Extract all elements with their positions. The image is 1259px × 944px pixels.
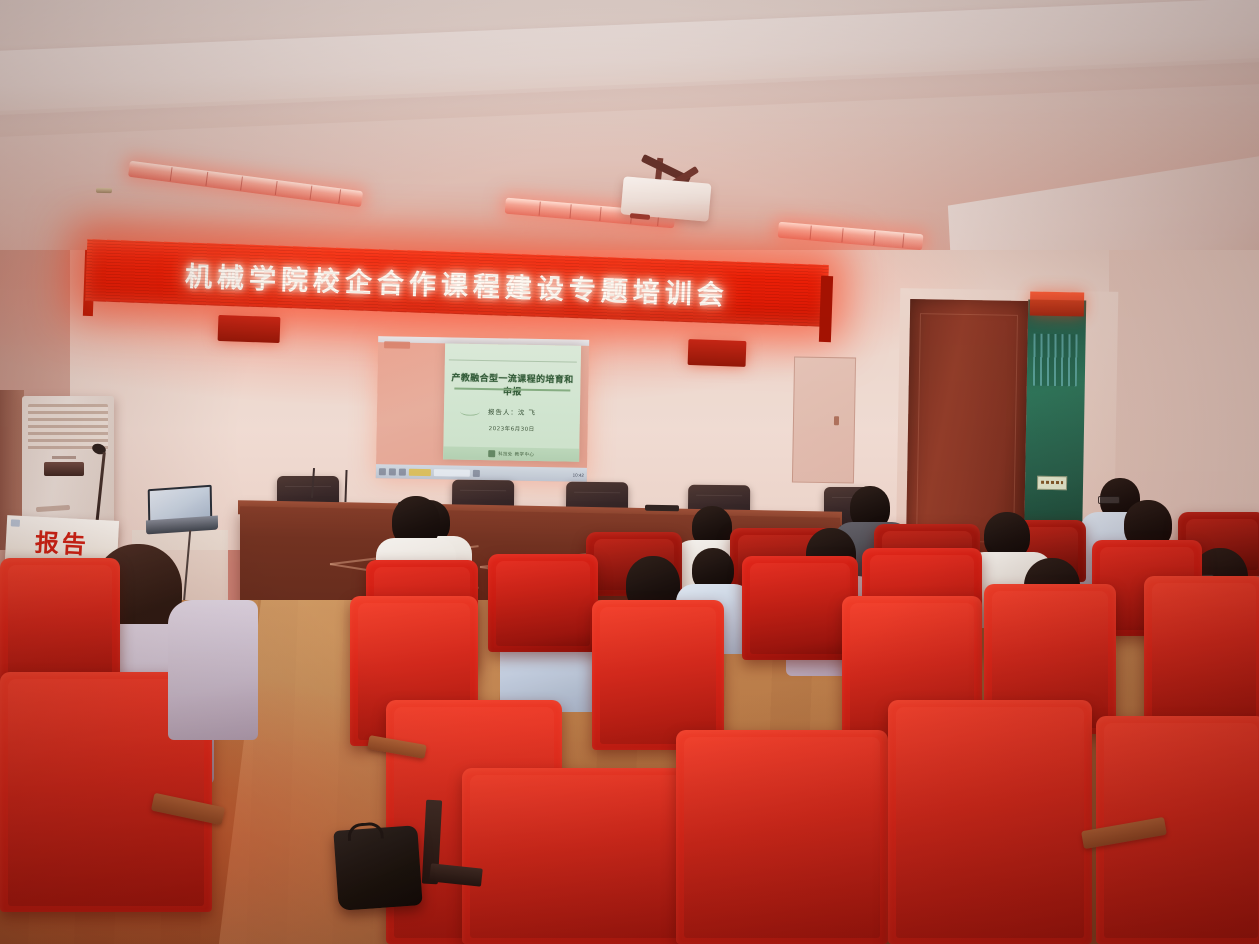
auditorium-seat (462, 768, 702, 944)
ceiling (0, 0, 1259, 268)
slide-top-divider (449, 359, 577, 362)
wall-electrical-panel (792, 356, 856, 483)
table-object (645, 505, 679, 512)
taskbar-start-icon (379, 468, 386, 475)
led-banner-text: 机械学院校企合作课程建设专题培训会 (184, 254, 729, 312)
conference-room-photo: 机械学院校企合作课程建设专题培训会 产教融合型一流课程的培育和申报 报告人：沈 … (0, 0, 1259, 944)
corridor-sign (1037, 476, 1067, 491)
ac-brand-logo (52, 456, 76, 459)
taskbar-active-window (409, 468, 431, 475)
desktop-shortcut-icon (384, 341, 410, 348)
slide-footer-logo-icon (488, 450, 495, 457)
led-banner-edge-right (819, 276, 833, 342)
door-panel-inset (916, 313, 1018, 543)
slide-title: 产教融合型一流课程的培育和申报 (448, 370, 576, 398)
ac-display-panel (44, 462, 84, 476)
slide-footer-text: 科技处 教学中心 (498, 451, 534, 458)
glasses-icon (1098, 496, 1120, 504)
auditorium-seat (0, 558, 120, 688)
auditorium-seat (592, 600, 724, 750)
taskbar-icon-2 (399, 468, 406, 475)
taskbar-clock: 10:42 (573, 472, 584, 477)
taskbar-icon-1 (389, 468, 396, 475)
shoulder-bag (333, 825, 422, 911)
panel-latch-icon (834, 416, 839, 425)
ac-lower-vent (36, 505, 70, 512)
slide-footer: 科技处 教学中心 (443, 446, 579, 461)
slide-date: 2023年6月30日 (448, 423, 576, 433)
auditorium-seat (742, 556, 858, 660)
auditorium-seat (488, 554, 598, 652)
auditorium-seat (676, 730, 888, 944)
taskbar-window-2 (434, 469, 470, 477)
door-handle-icon (96, 188, 112, 193)
wall-speaker-right (688, 339, 747, 367)
projection-screen: 产教融合型一流课程的培育和申报 报告人：沈 飞 2023年6月30日 科技处 教… (376, 336, 589, 482)
door-top-red-glow (1030, 292, 1084, 317)
taskbar-icon-3 (473, 469, 480, 476)
auditorium-seat (888, 700, 1092, 944)
slide-presenter: 报告人：沈 飞 (448, 405, 576, 417)
presentation-slide: 产教融合型一流课程的培育和申报 报告人：沈 飞 2023年6月30日 科技处 教… (443, 343, 581, 461)
wall-speaker-left (218, 315, 281, 343)
auditorium-seat (1144, 576, 1259, 724)
corridor-window-grille (1033, 334, 1078, 387)
podium-sign-corner-label (11, 519, 20, 526)
attendee-torso (168, 600, 258, 740)
podium-sign-text: 报告 (34, 522, 90, 560)
